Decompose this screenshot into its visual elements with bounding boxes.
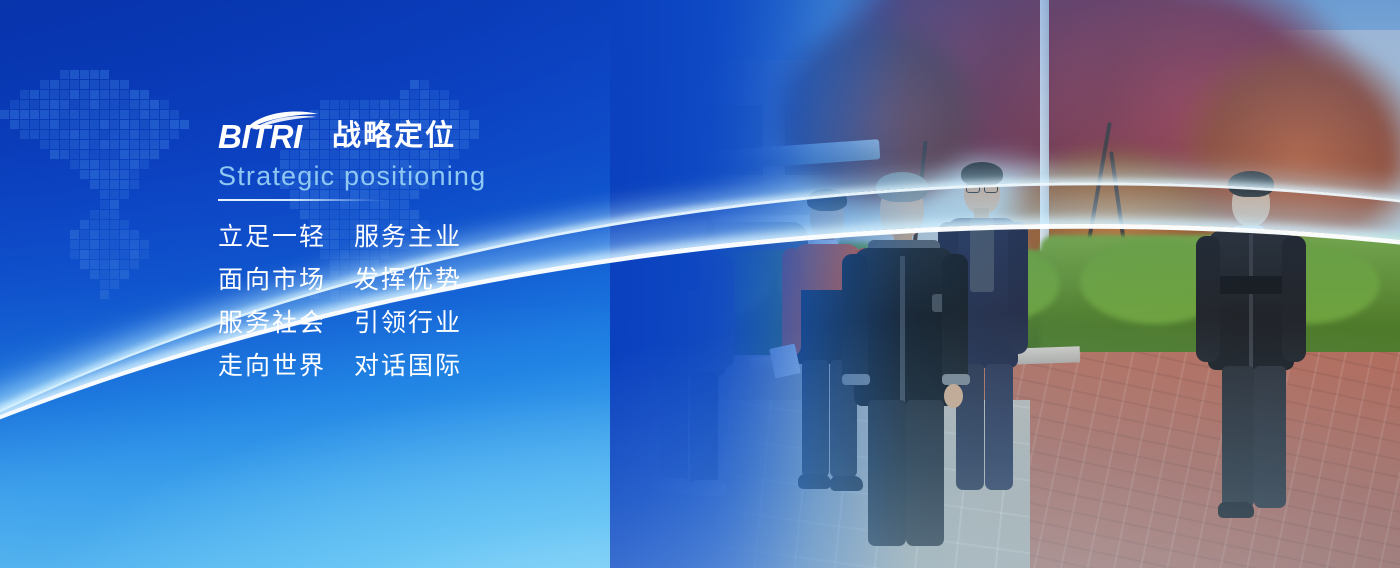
map-dot (90, 180, 99, 189)
map-dot (110, 210, 119, 219)
map-dot (120, 140, 129, 149)
map-dot (430, 90, 439, 99)
map-dot (100, 210, 109, 219)
strategic-positioning-banner: BITRI 战略定位 Strategic positioning 立足一轻服务主… (0, 0, 1400, 568)
map-dot (100, 80, 109, 89)
map-dot (150, 100, 159, 109)
map-dot (110, 150, 119, 159)
map-dot (90, 210, 99, 219)
map-dot (60, 150, 69, 159)
map-dot (110, 220, 119, 229)
map-dot (70, 110, 79, 119)
map-dot (70, 100, 79, 109)
bitri-logo: BITRI (218, 110, 318, 152)
map-dot (100, 100, 109, 109)
map-dot (40, 100, 49, 109)
map-dot (110, 230, 119, 239)
map-dot (110, 250, 119, 259)
map-dot (110, 140, 119, 149)
map-dot (10, 120, 19, 129)
map-dot (160, 110, 169, 119)
map-dot (100, 160, 109, 169)
map-dot (160, 130, 169, 139)
map-dot (110, 120, 119, 129)
map-dot (60, 140, 69, 149)
map-dot (140, 140, 149, 149)
map-dot (70, 130, 79, 139)
map-dot (110, 180, 119, 189)
map-dot (70, 140, 79, 149)
map-dot (130, 160, 139, 169)
map-dot (30, 120, 39, 129)
map-dot (120, 80, 129, 89)
map-dot (130, 100, 139, 109)
map-dot (120, 150, 129, 159)
slogan-left: 走向世界 (218, 354, 328, 379)
map-dot (100, 130, 109, 139)
map-dot (170, 130, 179, 139)
map-dot (10, 110, 19, 119)
map-dot (0, 110, 9, 119)
page-subtitle-en: Strategic positioning (218, 163, 738, 190)
map-dot (20, 130, 29, 139)
map-dot (120, 230, 129, 239)
map-dot (30, 130, 39, 139)
map-dot (440, 90, 449, 99)
map-dot (50, 120, 59, 129)
map-dot (100, 110, 109, 119)
map-dot (60, 130, 69, 139)
map-dot (140, 120, 149, 129)
map-dot (100, 240, 109, 249)
map-dot (130, 170, 139, 179)
map-dot (90, 120, 99, 129)
map-dot (70, 240, 79, 249)
map-dot (100, 120, 109, 129)
map-dot (20, 120, 29, 129)
map-dot (60, 70, 69, 79)
map-dot (80, 120, 89, 129)
map-dot (50, 140, 59, 149)
map-dot (10, 100, 19, 109)
slogan-left: 服务社会 (218, 311, 328, 336)
map-dot (100, 90, 109, 99)
map-dot (130, 130, 139, 139)
map-dot (140, 100, 149, 109)
map-dot (140, 240, 149, 249)
map-dot (90, 150, 99, 159)
map-dot (30, 110, 39, 119)
slogan-right: 引领行业 (354, 311, 464, 336)
map-dot (100, 170, 109, 179)
map-dot (130, 90, 139, 99)
slogan-right: 对话国际 (354, 354, 464, 379)
map-dot (40, 140, 49, 149)
map-dot (410, 90, 419, 99)
map-dot (420, 90, 429, 99)
map-dot (90, 130, 99, 139)
map-dot (120, 90, 129, 99)
map-dot (140, 130, 149, 139)
slogan-row: 走向世界对话国际 (218, 354, 738, 379)
map-dot (110, 130, 119, 139)
map-dot (80, 80, 89, 89)
map-dot (120, 100, 129, 109)
map-dot (100, 250, 109, 259)
map-dot (70, 250, 79, 259)
map-dot (90, 220, 99, 229)
map-dot (90, 160, 99, 169)
map-dot (70, 70, 79, 79)
map-dot (120, 240, 129, 249)
map-dot (100, 230, 109, 239)
slogan-list: 立足一轻服务主业面向市场发挥优势服务社会引领行业走向世界对话国际 (218, 225, 738, 379)
map-dot (180, 120, 189, 129)
map-dot (110, 90, 119, 99)
map-dot (100, 150, 109, 159)
map-dot (90, 90, 99, 99)
map-dot (80, 90, 89, 99)
map-dot (400, 90, 409, 99)
map-dot (130, 240, 139, 249)
map-dot (50, 80, 59, 89)
map-dot (40, 90, 49, 99)
page-title-cn: 战略定位 (332, 122, 456, 151)
map-dot (40, 110, 49, 119)
map-dot (80, 130, 89, 139)
map-dot (100, 260, 109, 269)
logo-row: BITRI 战略定位 (218, 108, 738, 152)
map-dot (90, 80, 99, 89)
map-dot (50, 130, 59, 139)
map-dot (150, 110, 159, 119)
map-dot (90, 250, 99, 259)
map-dot (130, 250, 139, 259)
map-dot (150, 130, 159, 139)
map-dot (110, 160, 119, 169)
map-dot (20, 110, 29, 119)
map-dot (120, 250, 129, 259)
map-dot (120, 170, 129, 179)
map-dot (90, 170, 99, 179)
map-dot (140, 150, 149, 159)
map-dot (170, 120, 179, 129)
map-dot (410, 80, 419, 89)
map-dot (100, 200, 109, 209)
map-dot (40, 130, 49, 139)
map-dot (120, 160, 129, 169)
map-dot (100, 290, 109, 299)
map-dot (70, 80, 79, 89)
headline-block: BITRI 战略定位 Strategic positioning 立足一轻服务主… (218, 108, 738, 397)
slogan-row: 立足一轻服务主业 (218, 225, 738, 250)
slogan-left: 面向市场 (218, 268, 328, 293)
map-dot (90, 140, 99, 149)
slogan-right: 发挥优势 (354, 268, 464, 293)
map-dot (70, 230, 79, 239)
map-dot (80, 260, 89, 269)
map-dot (20, 90, 29, 99)
map-dot (110, 270, 119, 279)
map-dot (120, 110, 129, 119)
title-underline (218, 199, 386, 201)
map-dot (80, 170, 89, 179)
map-dot (50, 110, 59, 119)
map-dot (100, 180, 109, 189)
map-dot (50, 100, 59, 109)
map-dot (110, 170, 119, 179)
slogan-row: 面向市场发挥优势 (218, 268, 738, 293)
map-dot (50, 90, 59, 99)
map-dot (80, 100, 89, 109)
map-dot (140, 250, 149, 259)
map-dot (100, 140, 109, 149)
map-dot (130, 180, 139, 189)
map-dot (120, 190, 129, 199)
map-dot (60, 80, 69, 89)
map-dot (110, 200, 119, 209)
map-dot (90, 230, 99, 239)
map-dot (80, 110, 89, 119)
map-dot (110, 190, 119, 199)
map-dot (170, 110, 179, 119)
map-dot (120, 120, 129, 129)
map-dot (90, 110, 99, 119)
map-dot (80, 70, 89, 79)
map-dot (90, 70, 99, 79)
map-dot (130, 140, 139, 149)
bitri-logo-text: BITRI (218, 120, 302, 153)
map-dot (70, 120, 79, 129)
map-dot (110, 260, 119, 269)
map-dot (80, 160, 89, 169)
map-dot (100, 220, 109, 229)
map-dot (40, 120, 49, 129)
map-dot (130, 260, 139, 269)
map-dot (80, 240, 89, 249)
map-dot (80, 230, 89, 239)
map-dot (130, 150, 139, 159)
map-dot (80, 140, 89, 149)
map-dot (90, 100, 99, 109)
map-dot (110, 240, 119, 249)
map-dot (120, 180, 129, 189)
map-dot (100, 190, 109, 199)
map-dot (120, 270, 129, 279)
map-dot (120, 260, 129, 269)
map-dot (140, 160, 149, 169)
map-dot (90, 240, 99, 249)
map-dot (60, 100, 69, 109)
map-dot (140, 90, 149, 99)
map-dot (80, 250, 89, 259)
map-dot (30, 90, 39, 99)
map-dot (110, 80, 119, 89)
map-dot (160, 140, 169, 149)
map-dot (70, 90, 79, 99)
map-dot (150, 140, 159, 149)
map-dot (130, 230, 139, 239)
map-dot (60, 90, 69, 99)
map-dot (120, 130, 129, 139)
map-dot (80, 220, 89, 229)
map-dot (100, 70, 109, 79)
map-dot (130, 120, 139, 129)
map-dot (110, 280, 119, 289)
map-dot (100, 280, 109, 289)
map-dot (30, 100, 39, 109)
map-dot (160, 120, 169, 129)
slogan-row: 服务社会引领行业 (218, 311, 738, 336)
map-dot (120, 220, 129, 229)
map-dot (80, 150, 89, 159)
map-dot (50, 150, 59, 159)
map-dot (40, 80, 49, 89)
map-dot (100, 270, 109, 279)
map-dot (60, 110, 69, 119)
map-dot (70, 160, 79, 169)
map-dot (90, 260, 99, 269)
map-dot (110, 100, 119, 109)
map-dot (160, 100, 169, 109)
map-dot (60, 120, 69, 129)
map-dot (90, 270, 99, 279)
map-dot (420, 80, 429, 89)
map-dot (140, 110, 149, 119)
map-dot (70, 150, 79, 159)
slogan-left: 立足一轻 (218, 225, 328, 250)
map-dot (110, 110, 119, 119)
map-dot (20, 100, 29, 109)
slogan-right: 服务主业 (354, 225, 464, 250)
map-dot (130, 110, 139, 119)
map-dot (150, 120, 159, 129)
map-dot (150, 150, 159, 159)
